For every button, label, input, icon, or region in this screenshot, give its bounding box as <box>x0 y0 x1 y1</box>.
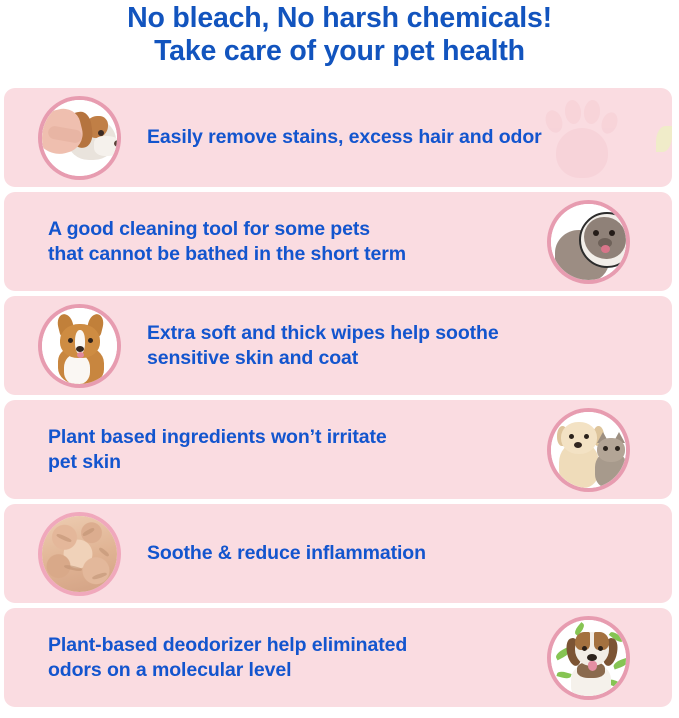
feature-line: Easily remove stains, excess hair and od… <box>147 125 662 150</box>
thumbnail-irritated-skin <box>38 512 121 596</box>
feature-card-soothe-inflammation: Soothe & reduce inflammation <box>4 504 672 603</box>
product-feature-infographic: No bleach, No harsh chemicals! Take care… <box>0 0 679 718</box>
feature-line: Soothe & reduce inflammation <box>147 541 662 566</box>
feature-card-plant-based-ingredients: Plant based ingredients won’t irritate p… <box>4 400 672 499</box>
feature-card-list: Easily remove stains, excess hair and od… <box>4 88 672 712</box>
feature-line: Extra soft and thick wipes help soothe <box>147 321 662 346</box>
feature-card-remove-stains: Easily remove stains, excess hair and od… <box>4 88 672 187</box>
feature-line: odors on a molecular level <box>48 658 535 683</box>
page-title: No bleach, No harsh chemicals! Take care… <box>0 2 679 68</box>
thumbnail-beagle-with-leaves <box>547 616 630 700</box>
thumbnail-puppy-and-kitten <box>547 408 630 492</box>
thumbnail-dog-ear-cleaning <box>38 96 121 180</box>
feature-line: sensitive skin and coat <box>147 346 662 371</box>
headline-line-2: Take care of your pet health <box>0 35 679 68</box>
feature-line: Plant-based deodorizer help eliminated <box>48 633 535 658</box>
feature-line: that cannot be bathed in the short term <box>48 242 535 267</box>
feature-text-plant-based-deodorizer: Plant-based deodorizer help eliminated o… <box>4 633 547 683</box>
feature-line: Plant based ingredients won’t irritate <box>48 425 535 450</box>
feature-text-soft-thick-wipes: Extra soft and thick wipes help soothe s… <box>121 321 672 371</box>
feature-line: pet skin <box>48 450 535 475</box>
feature-card-cleaning-tool: A good cleaning tool for some pets that … <box>4 192 672 291</box>
feature-card-plant-based-deodorizer: Plant-based deodorizer help eliminated o… <box>4 608 672 707</box>
thumbnail-corgi <box>38 304 121 388</box>
feature-text-remove-stains: Easily remove stains, excess hair and od… <box>121 125 672 150</box>
headline-line-1: No bleach, No harsh chemicals! <box>0 2 679 35</box>
feature-text-plant-based-ingredients: Plant based ingredients won’t irritate p… <box>4 425 547 475</box>
feature-text-soothe-inflammation: Soothe & reduce inflammation <box>121 541 672 566</box>
feature-card-soft-thick-wipes: Extra soft and thick wipes help soothe s… <box>4 296 672 395</box>
feature-line: A good cleaning tool for some pets <box>48 217 535 242</box>
feature-text-cleaning-tool: A good cleaning tool for some pets that … <box>4 217 547 267</box>
thumbnail-dog-with-cone <box>547 200 630 284</box>
